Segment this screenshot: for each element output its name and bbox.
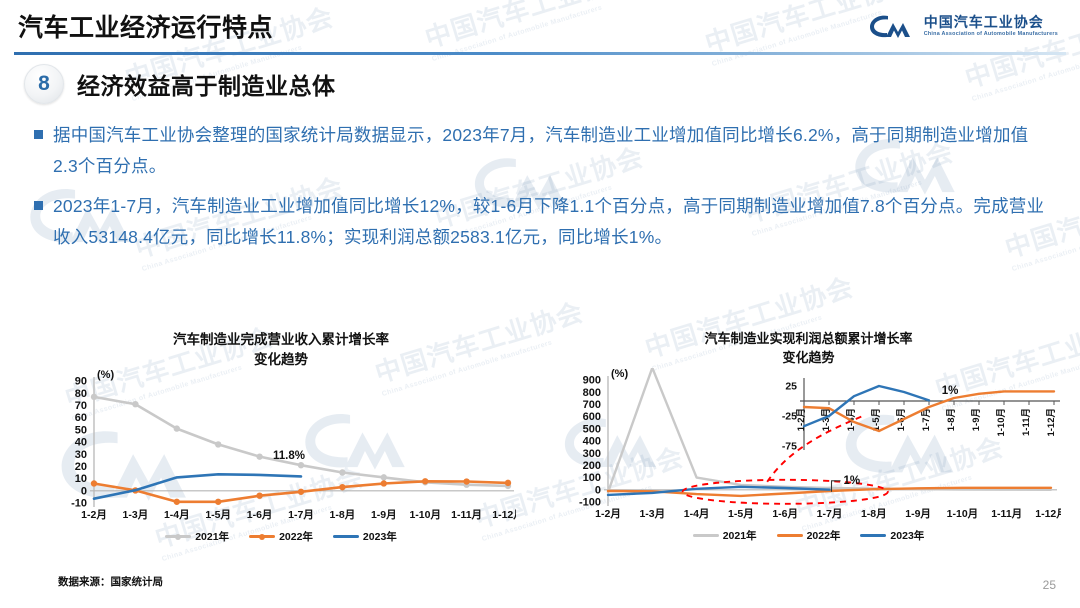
inset-x-label: 1-7月	[921, 408, 932, 431]
legend-label-2022: 2022年	[279, 529, 313, 544]
chart-profit-growth: 汽车制造业实现利润总额累计增长率 变化趋势 900800700600500400…	[556, 330, 1061, 560]
data-point	[215, 499, 221, 505]
axis-tick-label: 1-5月	[205, 509, 231, 521]
bullet-text: 2023年1-7月，汽车制造业工业增加值同比增长12%，较1-6月下降1.1个百…	[53, 191, 1046, 253]
axis-tick-label: 1-2月	[81, 509, 107, 521]
series-line-2021年	[94, 397, 508, 486]
axis-tick-label: -10	[71, 498, 87, 510]
axis-tick-label: 80	[75, 388, 87, 400]
plot-area-left: 9080706050403020100-10(%)1-2月1-3月1-4月1-5…	[46, 369, 516, 529]
axis-tick-label: 1-8月	[861, 508, 887, 520]
axis-tick-label: 600	[583, 411, 601, 423]
axis-tick-label: 1-3月	[123, 509, 149, 521]
axis-tick-label: 1-5月	[728, 508, 754, 520]
axis-tick-label: 1-9月	[371, 509, 397, 521]
legend-swatch-2022	[249, 535, 275, 538]
chart-title: 汽车制造业实现利润总额累计增长率 变化趋势	[556, 330, 1061, 368]
brand-lockup: 中国汽车工业协会 China Association of Automobile…	[868, 12, 1058, 40]
inset-x-label: 1-2月	[796, 408, 807, 431]
chart-revenue-growth: 汽车制造业完成营业收入累计增长率 变化趋势 908070605040302010…	[46, 330, 516, 560]
legend-swatch-2022	[777, 534, 803, 537]
inset-x-label: 1-10月	[996, 408, 1007, 437]
data-point	[174, 499, 180, 505]
inset-x-label: 1-12月	[1046, 408, 1057, 437]
axis-tick-label: 1-6月	[247, 509, 273, 521]
data-point	[298, 489, 304, 495]
axis-tick-label: 10	[75, 473, 87, 485]
annotation-1-percent-inset: 1%	[942, 385, 959, 397]
chart-subtitle: 变化趋势	[254, 352, 308, 367]
inset-panel: 25-25-751-2月1-3月1-4月1-5月1-6月1-7月1-8月1-9月…	[782, 378, 1060, 453]
legend-item-2021[interactable]: 2021年	[693, 528, 757, 543]
axis-tick-label: 1-2月	[595, 508, 621, 520]
axis-tick-label: 1-7月	[288, 509, 314, 521]
section-heading: 8 经济效益高于制造业总体	[24, 64, 336, 104]
axis-tick-label: 1-11月	[451, 509, 482, 521]
list-item: 2023年1-7月，汽车制造业工业增加值同比增长12%，较1-6月下降1.1个百…	[34, 191, 1046, 253]
axis-tick-label: 25	[785, 380, 797, 392]
axis-tick-label: -100	[579, 496, 601, 508]
legend-label-2022: 2022年	[807, 528, 841, 543]
data-point	[256, 454, 262, 460]
data-point	[91, 480, 97, 486]
revenue-growth-plot: 9080706050403020100-10(%)1-2月1-3月1-4月1-5…	[46, 369, 516, 529]
inset-x-label: 1-9月	[971, 408, 982, 431]
data-point	[381, 480, 387, 486]
annotation-11-8-percent: 11.8%	[273, 450, 305, 462]
inset-x-label: 1-8月	[946, 408, 957, 431]
axis-tick-label: -25	[782, 410, 797, 422]
brand-name-en: China Association of Automobile Manufact…	[924, 32, 1058, 38]
legend-swatch-2021	[165, 535, 191, 538]
bullet-square-icon	[34, 201, 43, 210]
legend-swatch-2023	[860, 534, 886, 537]
axis-tick-label: 0	[595, 484, 601, 496]
data-point	[339, 469, 345, 475]
axis-tick-label: 100	[583, 472, 601, 484]
axis-tick-label: 700	[583, 399, 601, 411]
slide-header: 汽车工业经济运行特点 中国汽车工业协会 China Association of…	[0, 0, 1080, 58]
source-note: 数据来源：国家统计局	[58, 574, 163, 589]
profit-growth-plot: 9008007006005004003002001000-100(%)1-2月1…	[556, 368, 1061, 528]
legend-item-2022[interactable]: 2022年	[777, 528, 841, 543]
data-point	[298, 462, 304, 468]
chart-legend-left: 2021年 2022年 2023年	[46, 529, 516, 544]
page-number: 25	[1043, 578, 1056, 592]
axis-tick-label: 1-3月	[639, 508, 665, 520]
data-point	[463, 478, 469, 484]
plot-area-right: 9008007006005004003002001000-100(%)1-2月1…	[556, 368, 1061, 528]
legend-swatch-2021	[693, 534, 719, 537]
brand-text: 中国汽车工业协会 China Association of Automobile…	[924, 15, 1058, 37]
data-point	[215, 441, 221, 447]
axis-tick-label: 1-6月	[772, 508, 798, 520]
data-point	[422, 478, 428, 484]
annotation-1-percent-main: 1%	[844, 474, 861, 486]
axis-tick-label: -75	[782, 440, 797, 452]
inset-x-label: 1-11月	[1021, 408, 1032, 436]
axis-tick-label: (%)	[97, 369, 114, 381]
axis-tick-label: 20	[75, 461, 87, 473]
axis-tick-label: (%)	[611, 368, 628, 380]
chart-legend-right: 2021年 2022年 2023年	[556, 528, 1061, 543]
bullet-square-icon	[34, 130, 43, 139]
bullet-list: 据中国汽车工业协会整理的国家统计局数据显示，2023年7月，汽车制造业工业增加值…	[34, 120, 1046, 263]
data-point	[381, 474, 387, 480]
axis-tick-label: 1-8月	[330, 509, 356, 521]
data-point	[505, 480, 511, 486]
axis-tick-label: 300	[583, 447, 601, 459]
axis-tick-label: 1-10月	[409, 509, 441, 521]
data-point	[174, 426, 180, 432]
legend-item-2021[interactable]: 2021年	[165, 529, 229, 544]
axis-tick-label: 400	[583, 435, 601, 447]
legend-label-2023: 2023年	[890, 528, 924, 543]
axis-tick-label: 60	[75, 412, 87, 424]
page-title: 汽车工业经济运行特点	[18, 8, 273, 44]
legend-label-2021: 2021年	[195, 529, 229, 544]
bullet-text: 据中国汽车工业协会整理的国家统计局数据显示，2023年7月，汽车制造业工业增加值…	[53, 120, 1046, 182]
chart-subtitle: 变化趋势	[782, 350, 834, 365]
legend-label-2021: 2021年	[723, 528, 757, 543]
legend-swatch-2023	[333, 535, 359, 538]
cam-logo-icon	[868, 12, 916, 40]
axis-tick-label: 800	[583, 386, 601, 398]
legend-item-2022[interactable]: 2022年	[249, 529, 313, 544]
axis-tick-label: 0	[81, 486, 87, 498]
axis-tick-label: 200	[583, 460, 601, 472]
axis-tick-label: 1-12月	[492, 509, 516, 521]
axis-tick-label: 70	[75, 400, 87, 412]
brand-name-cn: 中国汽车工业协会	[924, 15, 1058, 30]
axis-tick-label: 1-10月	[947, 508, 979, 520]
axis-tick-label: 1-4月	[684, 508, 710, 520]
list-item: 据中国汽车工业协会整理的国家统计局数据显示，2023年7月，汽车制造业工业增加值…	[34, 120, 1046, 182]
data-point	[339, 484, 345, 490]
legend-label-2023: 2023年	[363, 529, 397, 544]
axis-tick-label: 40	[75, 437, 87, 449]
data-point	[256, 493, 262, 499]
axis-tick-label: 90	[75, 376, 87, 388]
section-title: 经济效益高于制造业总体	[77, 67, 336, 101]
axis-tick-label: 30	[75, 449, 87, 461]
data-point	[132, 401, 138, 407]
axis-tick-label: 1-7月	[817, 508, 843, 520]
axis-tick-label: 1-4月	[164, 509, 190, 521]
axis-tick-label: 500	[583, 423, 601, 435]
header-divider	[14, 52, 1066, 55]
axis-tick-label: 900	[583, 374, 601, 386]
data-point	[91, 394, 97, 400]
axis-tick-label: 1-9月	[905, 508, 931, 520]
axis-tick-label: 1-12月	[1035, 508, 1061, 520]
section-number-badge: 8	[24, 64, 64, 104]
axis-tick-label: 50	[75, 425, 87, 437]
chart-title: 汽车制造业完成营业收入累计增长率 变化趋势	[46, 330, 516, 369]
legend-item-2023[interactable]: 2023年	[333, 529, 397, 544]
axis-tick-label: 1-11月	[991, 508, 1022, 520]
legend-item-2023[interactable]: 2023年	[860, 528, 924, 543]
